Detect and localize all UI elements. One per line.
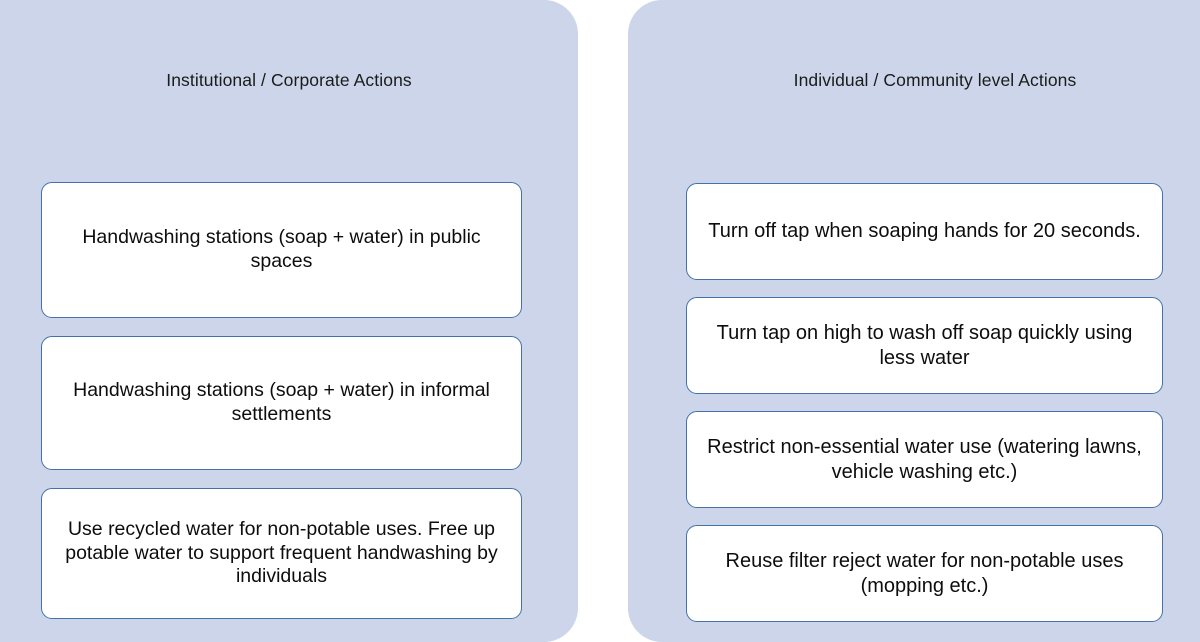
panel-title-institutional: Institutional / Corporate Actions (0, 70, 578, 91)
action-card-restrict-non-essential-use[interactable]: Restrict non-essential water use (wateri… (686, 411, 1163, 508)
action-card-text: Reuse filter reject water for non-potabl… (687, 549, 1162, 598)
action-card-handwashing-informal-settlements[interactable]: Handwashing stations (soap + water) in i… (41, 336, 522, 470)
action-card-reuse-filter-reject-water[interactable]: Reuse filter reject water for non-potabl… (686, 525, 1163, 622)
action-card-text: Handwashing stations (soap + water) in i… (42, 379, 521, 427)
action-card-text: Turn tap on high to wash off soap quickl… (687, 321, 1162, 370)
action-card-text: Use recycled water for non-potable uses.… (42, 518, 521, 589)
action-card-turn-off-tap-soaping[interactable]: Turn off tap when soaping hands for 20 s… (686, 183, 1163, 280)
action-card-recycled-water[interactable]: Use recycled water for non-potable uses.… (41, 488, 522, 619)
action-card-handwashing-public-spaces[interactable]: Handwashing stations (soap + water) in p… (41, 182, 522, 318)
panel-title-individual: Individual / Community level Actions (628, 70, 1200, 91)
action-card-text: Handwashing stations (soap + water) in p… (42, 226, 521, 274)
action-card-text: Restrict non-essential water use (wateri… (687, 435, 1162, 484)
action-card-text: Turn off tap when soaping hands for 20 s… (687, 219, 1162, 243)
action-card-tap-high-wash-off-soap[interactable]: Turn tap on high to wash off soap quickl… (686, 297, 1163, 394)
two-column-actions-diagram: Institutional / Corporate Actions Handwa… (0, 0, 1200, 642)
